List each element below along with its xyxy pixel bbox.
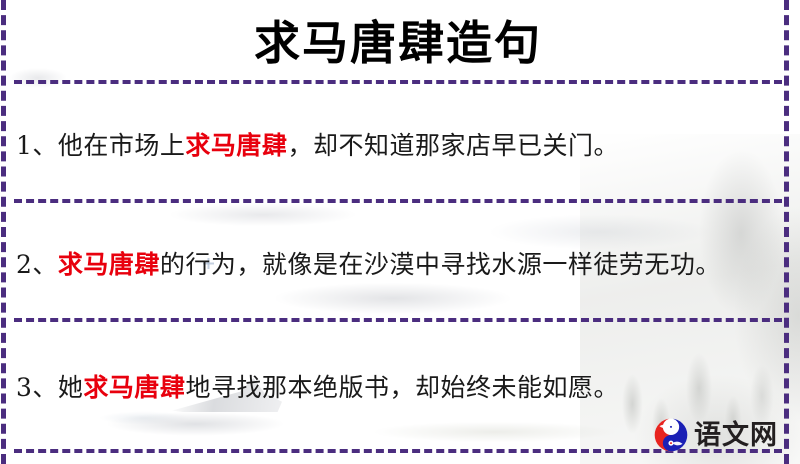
sentence-number-1: 1、 bbox=[16, 131, 58, 160]
sentence-text-after-2: 的行为，就像是在沙漠中寻找水源一样徒劳无功。 bbox=[160, 250, 721, 279]
sentence-text-after-1: ，却不知道那家店早已关门。 bbox=[287, 131, 619, 160]
yin-yang-fish-logo-icon bbox=[654, 418, 688, 452]
sentence-text-after-3: 地寻找那本绝版书，却始终未能如愿。 bbox=[185, 373, 619, 402]
sentence-text-before-1: 他在市场上 bbox=[58, 131, 186, 160]
idiom-highlight-2: 求马唐肆 bbox=[58, 250, 160, 279]
sentence-number-3: 3、 bbox=[16, 373, 58, 402]
idiom-highlight-3: 求马唐肆 bbox=[83, 373, 185, 402]
example-sentence-2: 2、求马唐肆的行为，就像是在沙漠中寻找水源一样徒劳无功。 bbox=[14, 236, 782, 293]
worksheet-content: 求马唐肆造句 1、他在市场上求马唐肆，却不知道那家店早已关门。 2、求马唐肆的行… bbox=[0, 0, 800, 453]
worksheet-page: 求马唐肆造句 1、他在市场上求马唐肆，却不知道那家店早已关门。 2、求马唐肆的行… bbox=[0, 0, 800, 464]
sentence-text-before-3: 她 bbox=[58, 373, 84, 402]
sentence-number-2: 2、 bbox=[16, 250, 58, 279]
idiom-highlight-1: 求马唐肆 bbox=[185, 131, 287, 160]
example-sentence-3: 3、她求马唐肆地寻找那本绝版书，却始终未能如愿。 bbox=[14, 359, 782, 416]
site-logo-text: 语文网 bbox=[694, 422, 778, 449]
page-title: 求马唐肆造句 bbox=[14, 0, 782, 80]
example-sentence-1: 1、他在市场上求马唐肆，却不知道那家店早已关门。 bbox=[14, 117, 782, 174]
site-logo[interactable]: 语文网 bbox=[654, 418, 778, 452]
